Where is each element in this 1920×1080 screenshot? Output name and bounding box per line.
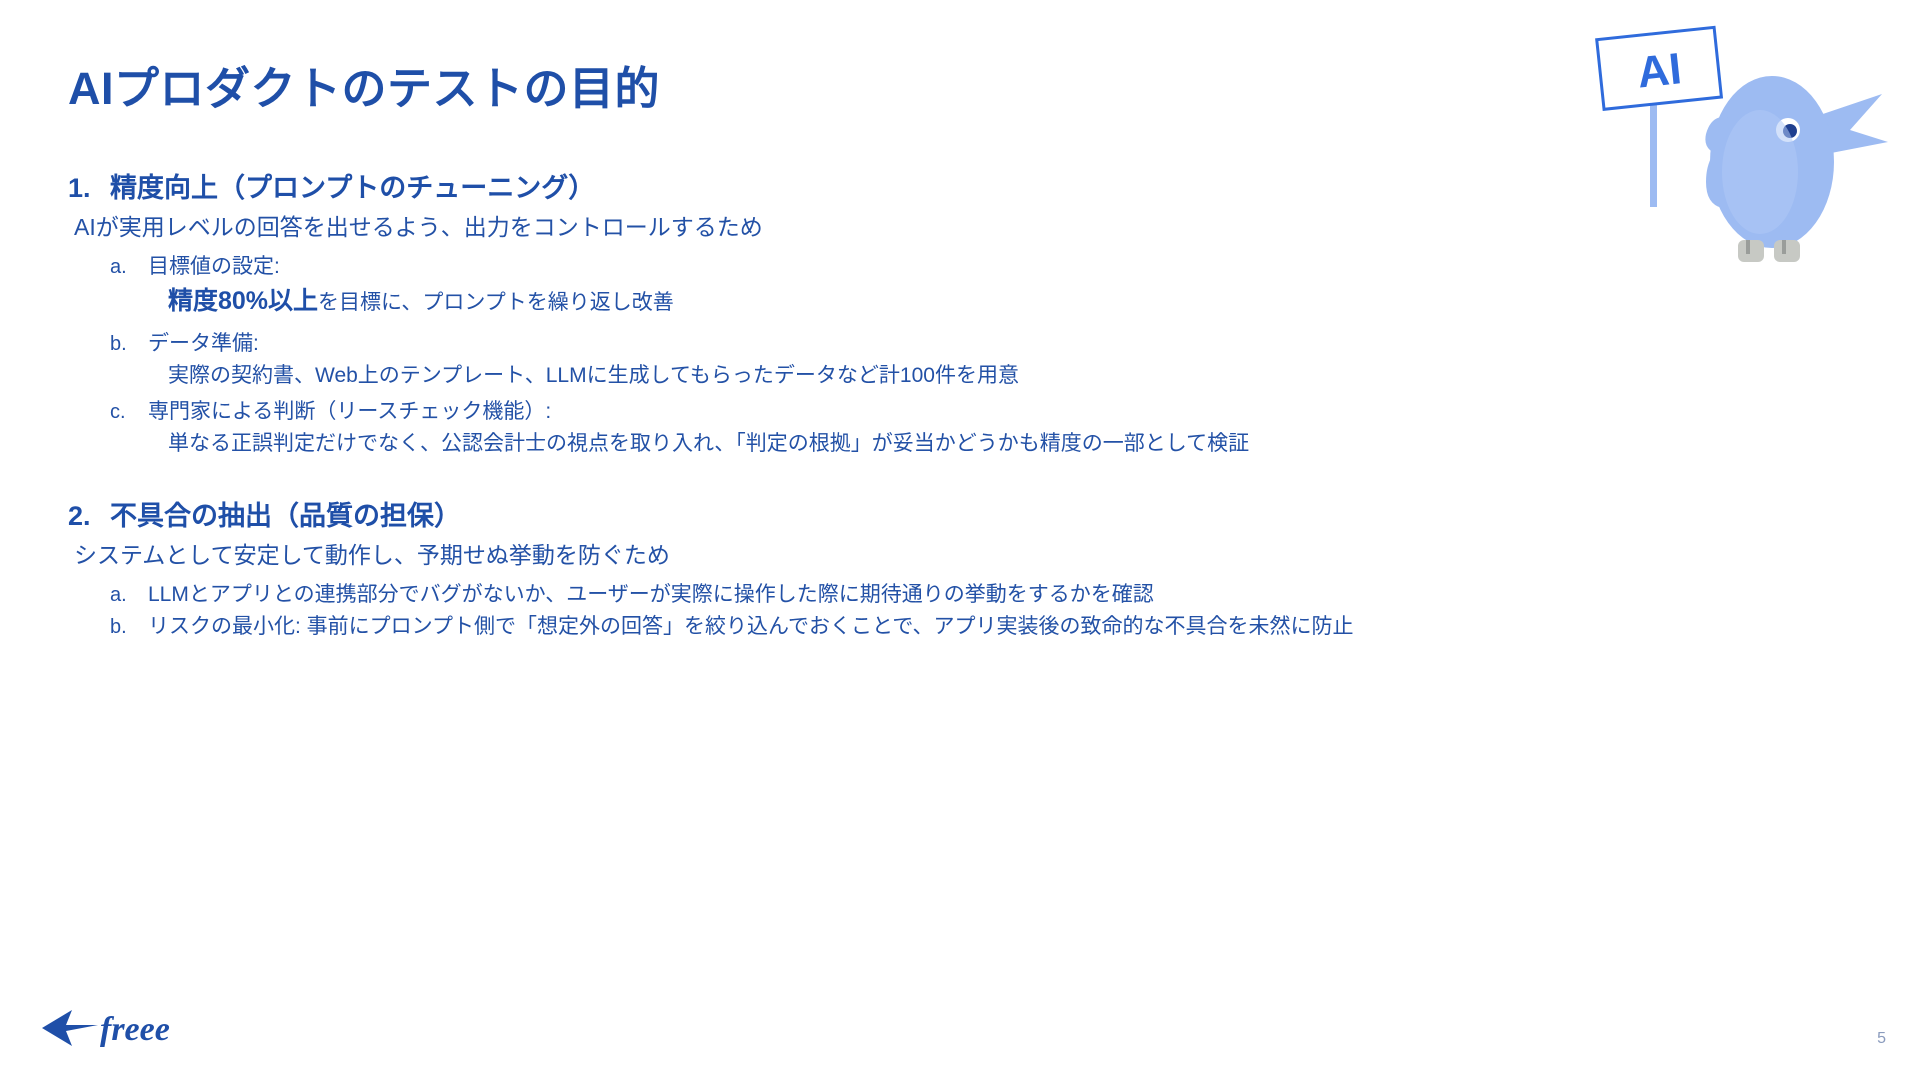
freee-logo: freee: [38, 998, 198, 1054]
list-marker: c.: [110, 397, 148, 427]
list-item: a. LLMとアプリとの連携部分でバグがないか、ユーザーが実際に操作した際に期待…: [110, 579, 1828, 611]
list-item-label: LLMとアプリとの連携部分でバグがないか、ユーザーが実際に操作した際に期待通りの…: [148, 579, 1828, 611]
list-item-label: 目標値の設定:: [148, 251, 1828, 283]
section-1-heading-text: 精度向上（プロンプトのチューニング）: [110, 170, 595, 206]
list-item: b. リスクの最小化: 事前にプロンプト側で「想定外の回答」を絞り込んでおくこと…: [110, 611, 1828, 643]
section-2: 2. 不具合の抽出（品質の担保） システムとして安定して動作し、予期せぬ挙動を防…: [68, 498, 1828, 643]
section-2-heading-text: 不具合の抽出（品質の担保）: [110, 498, 461, 534]
accuracy-target-value: 精度80%以上: [168, 287, 318, 315]
list-item-detail: 単なる正誤判定だけでなく、公認会計士の視点を取り入れ、「判定の根拠」が妥当かどう…: [168, 428, 1828, 460]
list-marker: a.: [110, 580, 148, 610]
list-item: c. 専門家による判断（リースチェック機能）:: [110, 396, 1828, 428]
list-item-label: データ準備:: [148, 328, 1828, 360]
list-item: a. 目標値の設定:: [110, 251, 1828, 283]
section-2-lead: システムとして安定して動作し、予期せぬ挙動を防ぐため: [74, 539, 1828, 572]
list-item-label: 専門家による判断（リースチェック機能）:: [148, 396, 1828, 428]
section-2-number: 2.: [68, 498, 110, 534]
mascot-sign-label: AI: [1635, 44, 1684, 97]
section-1-number: 1.: [68, 170, 110, 206]
section-spacer: [68, 464, 1828, 498]
freee-logo-text: freee: [100, 1011, 170, 1048]
section-1-heading: 1. 精度向上（プロンプトのチューニング）: [68, 170, 1828, 206]
list-item-label: リスクの最小化: 事前にプロンプト側で「想定外の回答」を絞り込んでおくことで、ア…: [148, 611, 1828, 643]
list-item-detail: 実際の契約書、Web上のテンプレート、LLMに生成してもらったデータなど計100…: [168, 360, 1828, 392]
accuracy-target-rest: を目標に、プロンプトを繰り返し改善: [318, 291, 674, 314]
page-number: 5: [1877, 1030, 1886, 1048]
list-marker: b.: [110, 612, 148, 642]
section-1-items: a. 目標値の設定: 精度80%以上を目標に、プロンプトを繰り返し改善 b. デ…: [68, 251, 1828, 460]
section-1-lead: AIが実用レベルの回答を出せるよう、出力をコントロールするため: [74, 211, 1828, 244]
section-2-items: a. LLMとアプリとの連携部分でバグがないか、ユーザーが実際に操作した際に期待…: [68, 579, 1828, 643]
slide-canvas: AIプロダクトのテストの目的 AI: [0, 0, 1920, 1080]
list-marker: a.: [110, 252, 148, 282]
list-item-detail: 精度80%以上を目標に、プロンプトを繰り返し改善: [168, 283, 1828, 321]
page-title: AIプロダクトのテストの目的: [68, 52, 660, 117]
section-2-heading: 2. 不具合の抽出（品質の担保）: [68, 498, 1828, 534]
section-1: 1. 精度向上（プロンプトのチューニング） AIが実用レベルの回答を出せるよう、…: [68, 170, 1828, 460]
list-marker: b.: [110, 329, 148, 359]
slide-body: 1. 精度向上（プロンプトのチューニング） AIが実用レベルの回答を出せるよう、…: [68, 170, 1828, 644]
list-item: b. データ準備:: [110, 328, 1828, 360]
